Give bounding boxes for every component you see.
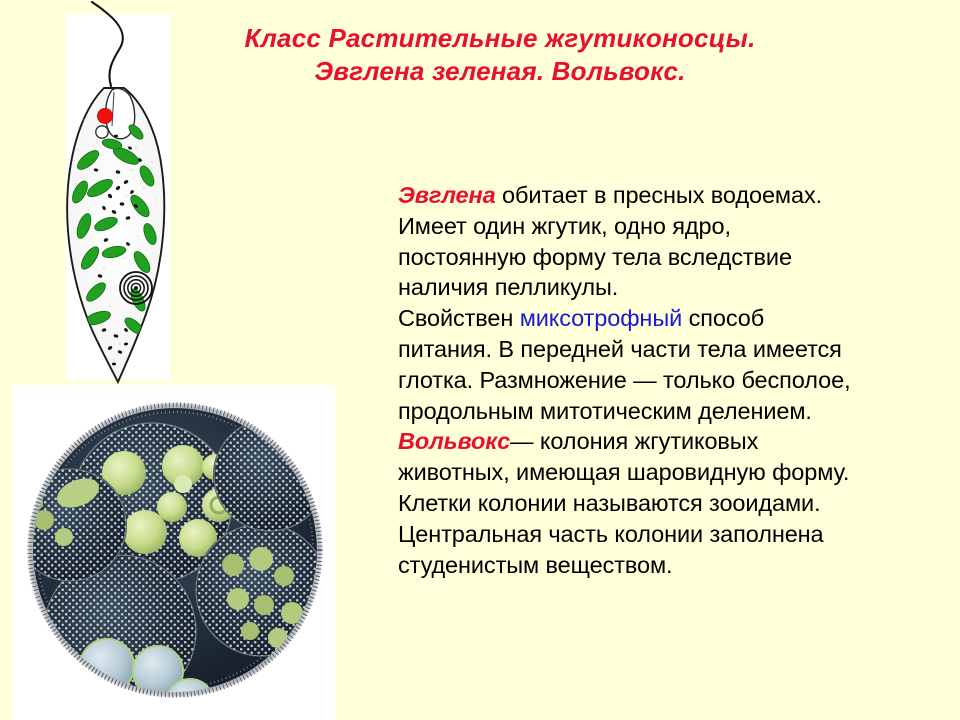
body-text-run: глотка. Размножение — только бесполое, (398, 367, 851, 393)
body-text-line: студенистым веществом. (398, 550, 918, 581)
body-text-line: Имеет один жгутик, одно ядро, (398, 211, 918, 242)
body-text-run: питания. В передней части тела имеется (398, 336, 842, 362)
body-text-run: постоянную форму тела вследствие (398, 244, 792, 270)
euglena-image-panel (66, 14, 170, 380)
body-text-line: Вольвокс— колония жгутиковых (398, 426, 918, 457)
body-text-line: Центральная часть колонии заполнена (398, 519, 918, 550)
page-title: Класс Растительные жгутиконосцы. Эвглена… (150, 22, 850, 88)
term-highlight-red: Вольвокс (398, 428, 510, 454)
body-text-run: способ (682, 305, 764, 331)
body-text-line: Клетки колонии называются зооидами. (398, 488, 918, 519)
title-line-1: Класс Растительные жгутиконосцы. (150, 22, 850, 55)
body-text-run: наличия пелликулы. (398, 274, 618, 300)
term-highlight-red: Эвглена (398, 182, 496, 208)
body-text-line: продольным митотическим делением. (398, 396, 918, 427)
body-text-run: Клетки колонии называются зооидами. (398, 490, 821, 516)
body-text-run: студенистым веществом. (398, 552, 672, 578)
term-highlight-blue: миксотрофный (520, 305, 682, 331)
body-text-run: животных, имеющая шаровидную форму. (398, 459, 849, 485)
body-text-run: Свойствен (398, 305, 520, 331)
body-text-line: Эвглена обитает в пресных водоемах. (398, 180, 918, 211)
body-text-block: Эвглена обитает в пресных водоемах.Имеет… (398, 180, 918, 580)
volvox-image-panel (12, 385, 335, 720)
volvox-micrograph (12, 385, 335, 720)
slide-root: Класс Растительные жгутиконосцы. Эвглена… (0, 0, 960, 720)
body-text-line: глотка. Размножение — только бесполое, (398, 365, 918, 396)
body-text-run: Имеет один жгутик, одно ядро, (398, 213, 731, 239)
title-line-2: Эвглена зеленая. Вольвокс. (150, 55, 850, 88)
body-text-line: питания. В передней части тела имеется (398, 334, 918, 365)
body-text-line: постоянную форму тела вследствие (398, 242, 918, 273)
body-text-line: животных, имеющая шаровидную форму. (398, 457, 918, 488)
body-text-line: наличия пелликулы. (398, 272, 918, 303)
body-text-line: Свойствен миксотрофный способ (398, 303, 918, 334)
body-text-run: продольным митотическим делением. (398, 398, 812, 424)
body-text-run: Центральная часть колонии заполнена (398, 521, 824, 547)
body-text-run: обитает в пресных водоемах. (496, 182, 822, 208)
body-text-run: — колония жгутиковых (510, 428, 758, 454)
